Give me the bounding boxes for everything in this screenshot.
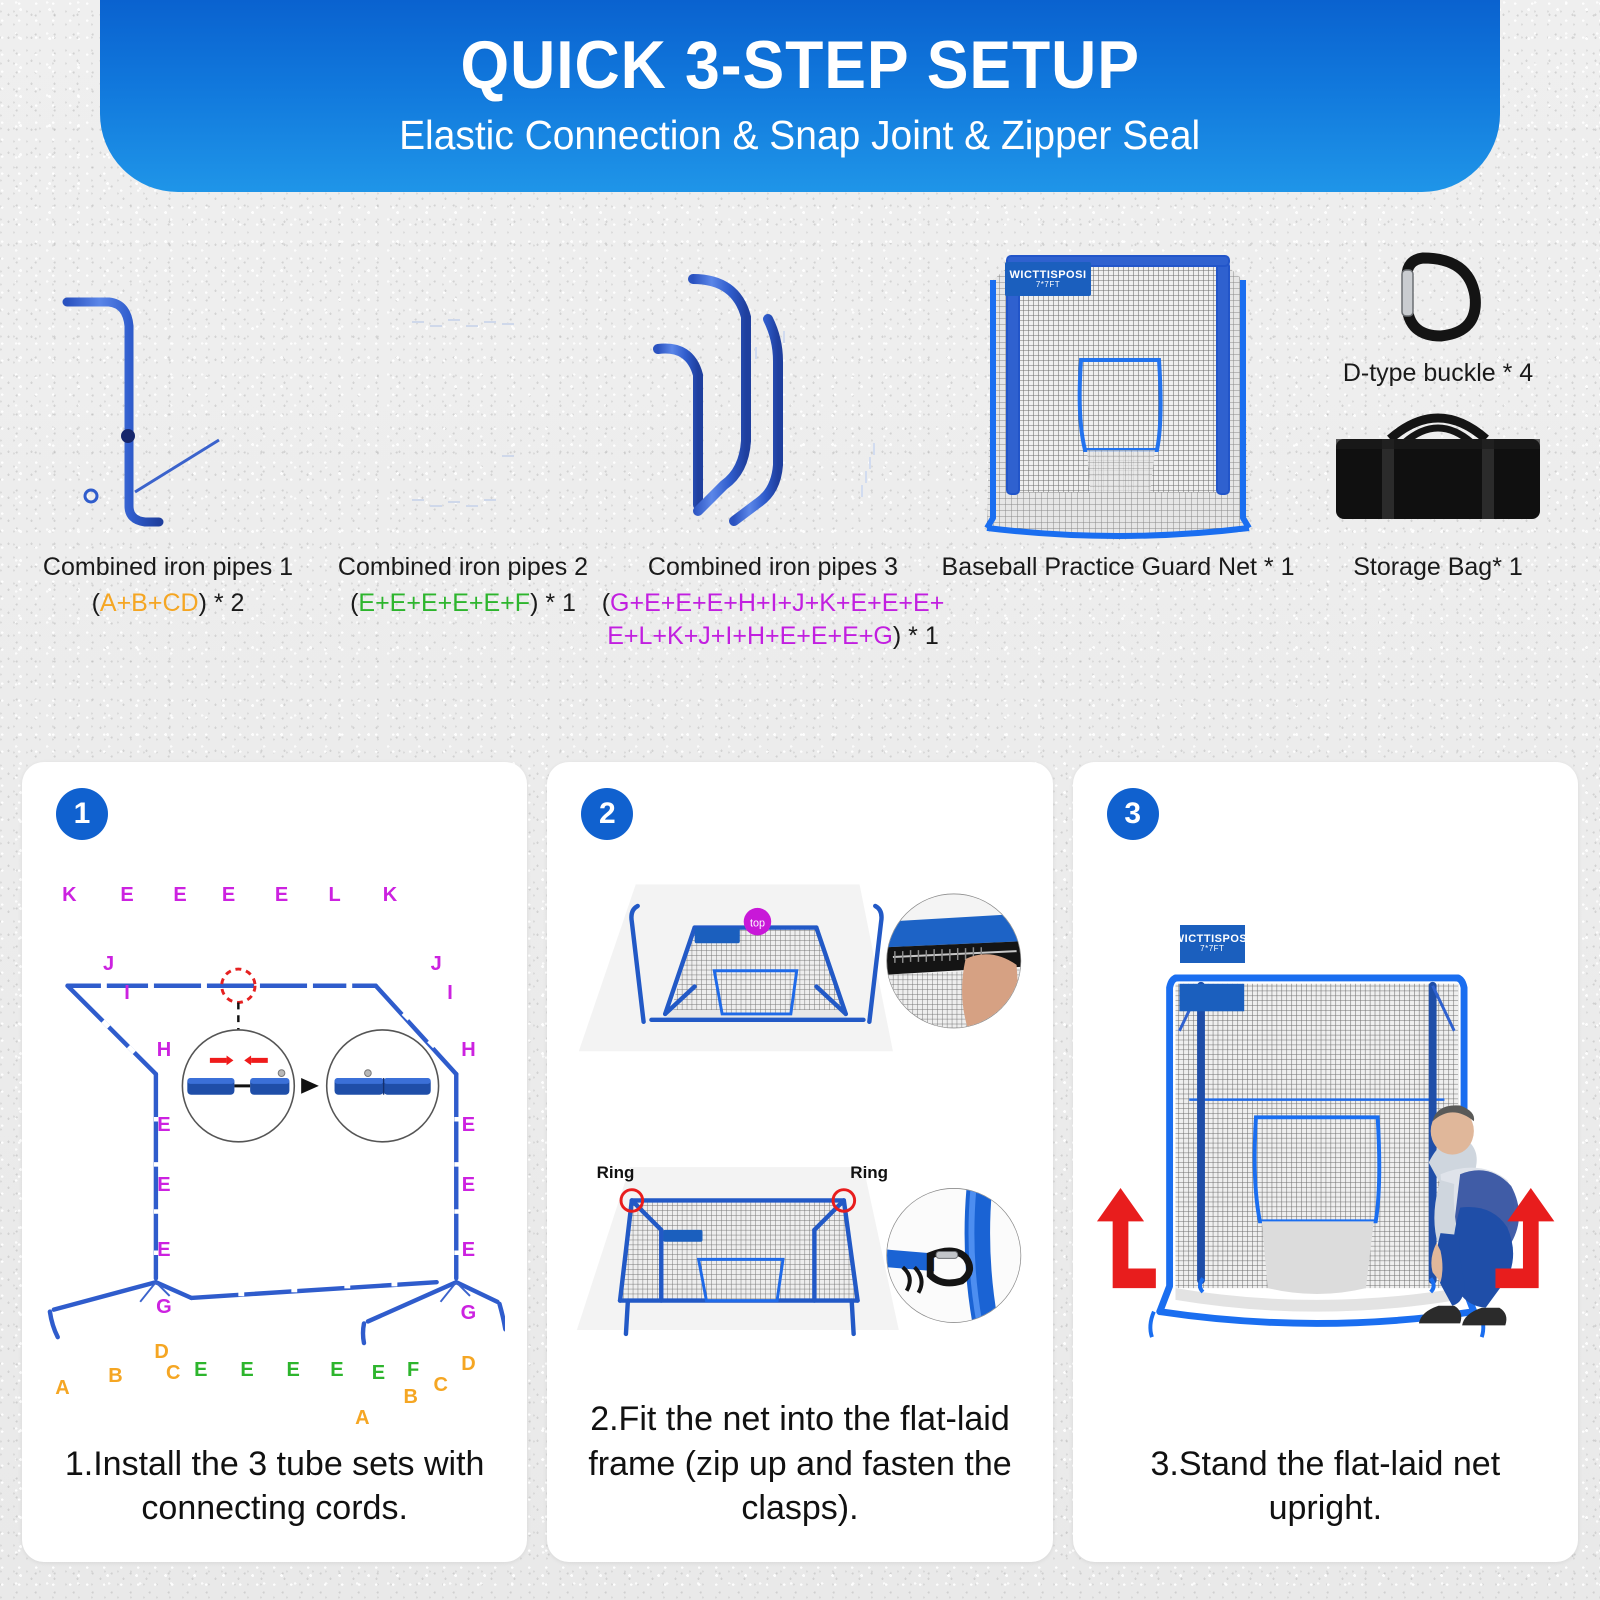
frame-label-I-right: I [447,983,453,1003]
formula-codes-line2: E+L+K+J+I+H+E+E+E+G [607,622,893,650]
step-caption: 3.Stand the flat-laid net upright. [1095,1442,1556,1536]
frame-label-D-left: D [154,1342,168,1362]
brand-name: WICTTISPOSI [1010,269,1087,281]
step-2-lower-scene: Ring Ring [569,1121,1030,1398]
frame-label-C-left: C [166,1363,180,1383]
frame-label-E-left-1: E [157,1115,170,1135]
step-card-2: 2 [547,762,1052,1562]
storage-bag-icon [1328,403,1548,523]
paren-close: ) * 1 [893,622,939,650]
part-label: Baseball Practice Guard Net * 1 [942,552,1295,583]
frame-label-K-right: K [383,885,397,905]
page-subtitle: Elastic Connection & Snap Joint & Zipper… [399,115,1200,156]
brand-size: 7*7FT [1036,281,1060,290]
frame-label-H-right: H [461,1040,475,1060]
frame-label-E-left-2: E [157,1175,170,1195]
buckle-label: D-type buckle * 4 [1343,358,1533,389]
frame-label-G-right: G [461,1303,477,1323]
frame-label-E-base-3: E [286,1360,299,1380]
baseball-guard-net-icon: WICTTISPOSI 7*7FT [963,240,1273,540]
part-label: Combined iron pipes 1 [43,552,293,583]
frame-label-E-base-5: E [372,1363,385,1383]
part-formula: (G+E+E+E+H+I+J+K+E+E+E+ E+L+K+J+I+H+E+E+… [602,587,945,652]
frame-label-J-right: J [431,954,442,974]
part-label: Combined iron pipes 2 [338,552,588,583]
step-number-badge: 1 [56,788,108,840]
step-card-1: 1 [22,762,527,1562]
frame-label-E-base-4: E [330,1360,343,1380]
straight-pipe-bundle-icon [388,240,538,540]
frame-label-K-left: K [62,885,76,905]
frame-label-A-left: A [55,1378,69,1398]
frame-label-C-right: C [434,1375,448,1395]
paren-open: ( [92,589,100,617]
formula-codes-line1: G+E+E+E+H+I+J+K+E+E+E+ [610,589,944,617]
frame-label-G-left: G [156,1297,172,1317]
frame-label-B-left: B [108,1366,122,1386]
frame-label-E-right-2: E [462,1175,475,1195]
part-accessories: D-type buckle * 4 Storage Bag* 1 [1298,240,1578,583]
frame-label-E-right-3: E [462,1240,475,1260]
paren-close: ) * 2 [199,589,245,617]
part-combined-iron-pipes-1: Combined iron pipes 1 (A+B+CD) * 2 [18,240,318,620]
net-brand-tag: WICTTISPOSI 7*7FT [1005,262,1091,296]
step-card-3: 3 [1073,762,1578,1562]
frame-label-E-top-3: E [222,885,235,905]
frame-label-E-base-2: E [240,1360,253,1380]
frame-label-E-base-1: E [194,1360,207,1380]
frame-label-A-right: A [355,1408,369,1428]
bag-label: Storage Bag* 1 [1353,552,1523,583]
frame-label-F: F [407,1360,419,1380]
d-type-buckle-icon [1383,240,1493,350]
part-combined-iron-pipes-2: Combined iron pipes 2 (E+E+E+E+E+F) * 1 [318,240,608,620]
step-caption: 1.Install the 3 tube sets with connectin… [44,1442,505,1536]
paren-close: ) * 1 [530,589,576,617]
step-1-frame-diagram: K E E E E L K J I H E E E G J I H E E E … [44,844,505,1442]
frame-label-I-left: I [124,983,130,1003]
brand-size: 7*7FT [1200,945,1224,954]
step-3-standing-net-diagram: WICTTISPOSI 7*7FT [1095,844,1556,1442]
step-number-badge: 2 [581,788,633,840]
step-2-net-fitting-diagram: top [569,844,1030,1397]
setup-steps: 1 [22,762,1578,1562]
step-2-upper-scene: top [569,844,1030,1115]
l-shaped-pipe-bundle-icon [638,240,908,540]
part-label: Combined iron pipes 3 [648,552,898,583]
frame-label-E-left-3: E [157,1240,170,1260]
net-brand-tag: WICTTISPOSI 7*7FT [1180,925,1245,963]
frame-label-E-top-2: E [173,885,186,905]
part-baseball-practice-guard-net: WICTTISPOSI 7*7FT Baseball Practice Guar… [938,240,1298,583]
frame-label-E-right-1: E [462,1115,475,1135]
frame-label-L: L [329,885,341,905]
part-formula: (A+B+CD) * 2 [92,587,245,620]
step-number-badge: 3 [1107,788,1159,840]
frame-label-E-top-1: E [120,885,133,905]
page-title: QUICK 3-STEP SETUP [460,31,1139,99]
formula-codes: E+E+E+E+E+F [358,589,530,617]
frame-label-H-left: H [157,1040,171,1060]
ring-label-right: Ring [850,1163,888,1183]
frame-label-B-right: B [404,1387,418,1407]
frame-label-E-top-4: E [275,885,288,905]
formula-codes: A+B+CD [100,589,199,617]
bent-iron-pipe-assembly-icon [53,240,283,540]
frame-label-J-left: J [103,954,114,974]
frame-label-D-right: D [461,1354,475,1374]
paren-open: ( [602,589,610,617]
ring-label-left: Ring [597,1163,635,1183]
page-header-banner: QUICK 3-STEP SETUP Elastic Connection & … [100,0,1500,192]
part-combined-iron-pipes-3: Combined iron pipes 3 (G+E+E+E+H+I+J+K+E… [608,240,938,652]
step-caption: 2.Fit the net into the flat-laid frame (… [569,1397,1030,1536]
parts-list: Combined iron pipes 1 (A+B+CD) * 2 [0,240,1600,720]
top-badge-text: top [750,918,765,930]
part-formula: (E+E+E+E+E+F) * 1 [350,587,576,620]
